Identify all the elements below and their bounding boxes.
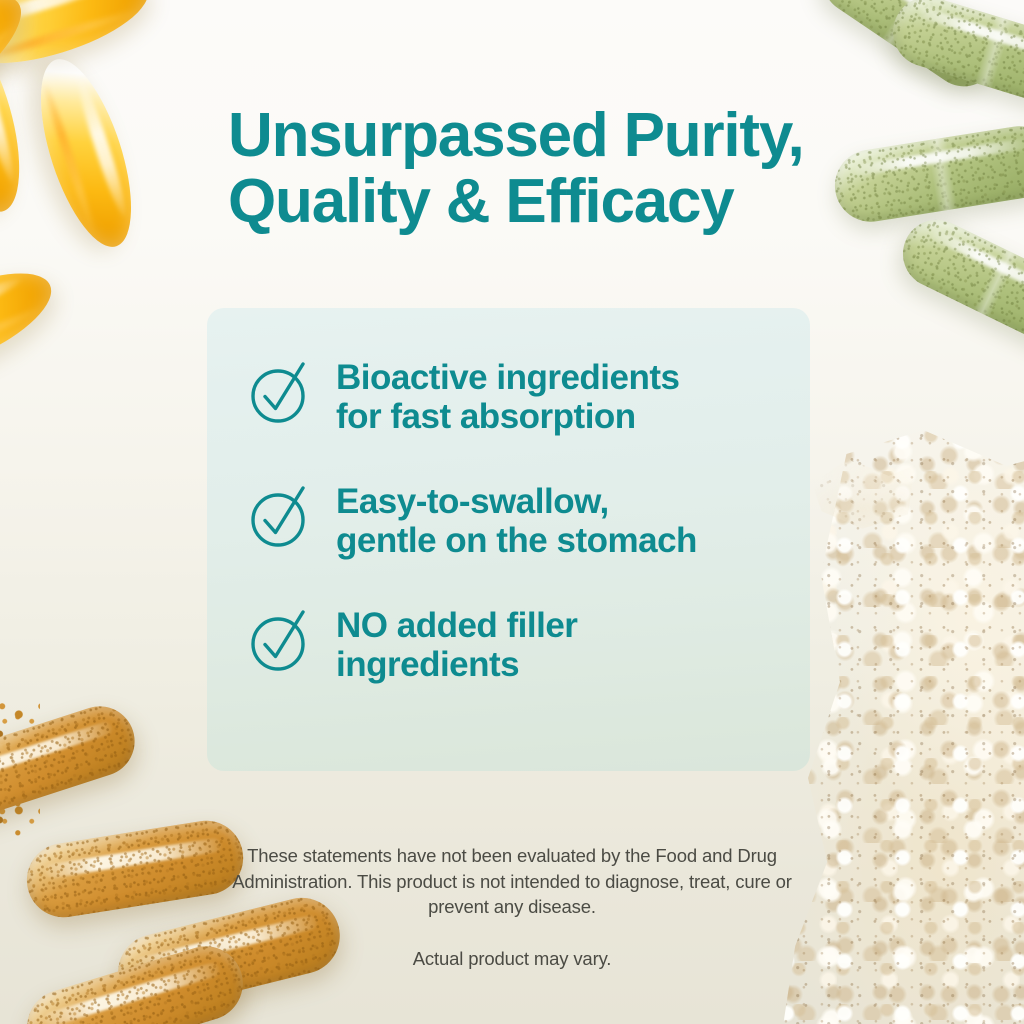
page-title: Unsurpassed Purity, Quality & Efficacy xyxy=(228,103,828,235)
promo-graphic: Unsurpassed Purity, Quality & Efficacy B… xyxy=(0,0,1024,1024)
benefit-line-1: Easy-to-swallow, xyxy=(336,482,609,521)
benefit-line-2: ingredients xyxy=(336,645,519,684)
cream-protein-powder-pile xyxy=(776,430,1024,1024)
benefit-text: Bioactive ingredients for fast absorptio… xyxy=(336,356,679,436)
yellow-softgel-capsules xyxy=(0,0,230,420)
check-circle-icon xyxy=(248,360,314,426)
benefit-item-bioactive: Bioactive ingredients for fast absorptio… xyxy=(248,356,778,436)
benefit-item-no-fillers: NO added filler ingredients xyxy=(248,604,778,684)
benefit-line-2: for fast absorption xyxy=(336,397,636,436)
product-variance-note: Actual product may vary. xyxy=(212,946,812,972)
benefit-text: Easy-to-swallow, gentle on the stomach xyxy=(336,480,697,560)
check-circle-icon xyxy=(248,608,314,674)
benefit-line-1: NO added filler xyxy=(336,606,577,645)
turmeric-powder-crumbs xyxy=(0,700,40,840)
benefit-item-easy-to-swallow: Easy-to-swallow, gentle on the stomach xyxy=(248,480,778,560)
disclaimer: These statements have not been evaluated… xyxy=(212,843,812,971)
headline-line-1: Unsurpassed Purity, xyxy=(228,101,804,170)
headline-line-2: Quality & Efficacy xyxy=(228,167,734,236)
benefit-line-2: gentle on the stomach xyxy=(336,521,697,560)
benefit-line-1: Bioactive ingredients xyxy=(336,358,679,397)
benefit-text: NO added filler ingredients xyxy=(336,604,577,684)
fda-statement: These statements have not been evaluated… xyxy=(212,843,812,920)
benefits-list: Bioactive ingredients for fast absorptio… xyxy=(248,356,778,684)
check-circle-icon xyxy=(248,484,314,550)
benefits-card: Bioactive ingredients for fast absorptio… xyxy=(207,308,810,771)
